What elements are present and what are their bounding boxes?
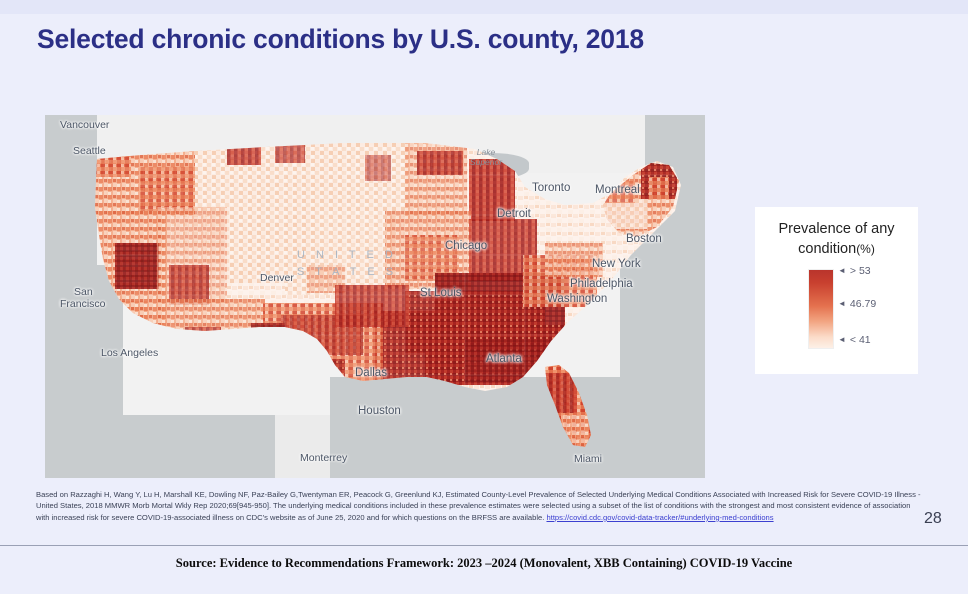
city-label-francisco: Francisco — [60, 298, 106, 310]
lake-superior-label: Lake Superior — [456, 147, 516, 167]
city-label-detroit: Detroit — [497, 208, 531, 220]
city-label-san: San — [74, 286, 93, 298]
city-label-st-louis: St Louis — [420, 287, 462, 299]
legend-title-unit: (%) — [856, 242, 875, 256]
city-label-vancouver: Vancouver — [60, 119, 109, 131]
choropleth-map[interactable]: Lake Superior U N I T E D S T A T E S Va… — [45, 115, 705, 478]
city-label-houston: Houston — [358, 405, 401, 417]
legend-color-gradient — [808, 269, 834, 349]
tick-arrow-icon: ◄ — [838, 299, 846, 308]
city-label-montreal: Montreal — [595, 184, 640, 196]
legend-tick-high: ◄> 53 — [838, 265, 871, 277]
united-states-watermark: U N I T E D S T A T E S — [297, 247, 397, 281]
city-label-philadelphia: Philadelphia — [570, 278, 633, 290]
source-caption: Source: Evidence to Recommendations Fram… — [0, 556, 968, 571]
page-title: Selected chronic conditions by U.S. coun… — [37, 24, 644, 55]
city-label-miami: Miami — [574, 453, 602, 465]
tick-arrow-icon: ◄ — [838, 266, 846, 275]
legend-tick-low: ◄< 41 — [838, 334, 871, 346]
city-label-atlanta: Atlanta — [486, 353, 522, 365]
city-label-boston: Boston — [626, 233, 662, 245]
slide: Selected chronic conditions by U.S. coun… — [0, 0, 968, 546]
city-label-chicago: Chicago — [445, 240, 487, 252]
city-label-monterrey: Monterrey — [300, 452, 347, 464]
legend-title-line1: Prevalence of any — [778, 221, 894, 237]
city-label-los-angeles: Los Angeles — [101, 347, 158, 359]
map-legend: Prevalence of any condition(%) ◄> 53 ◄46… — [755, 207, 918, 374]
footnote: Based on Razzaghi H, Wang Y, Lu H, Marsh… — [36, 489, 926, 523]
legend-title: Prevalence of any condition(%) — [755, 219, 918, 259]
footnote-text: Based on Razzaghi H, Wang Y, Lu H, Marsh… — [36, 490, 921, 522]
tick-arrow-icon: ◄ — [838, 335, 846, 344]
city-label-denver: Denver — [260, 272, 294, 284]
city-label-washington: Washington — [547, 293, 607, 305]
city-label-dallas: Dallas — [355, 367, 387, 379]
city-label-seattle: Seattle — [73, 145, 106, 157]
legend-title-line2: condition — [798, 241, 856, 257]
footnote-link[interactable]: https://covid.cdc.gov/covid-data-tracker… — [546, 513, 773, 522]
top-band — [0, 0, 968, 14]
city-label-new-york: New York — [592, 258, 641, 270]
city-label-toronto: Toronto — [532, 182, 570, 194]
page-number: 28 — [924, 510, 942, 528]
legend-tick-mid: ◄46.79 — [838, 298, 876, 310]
